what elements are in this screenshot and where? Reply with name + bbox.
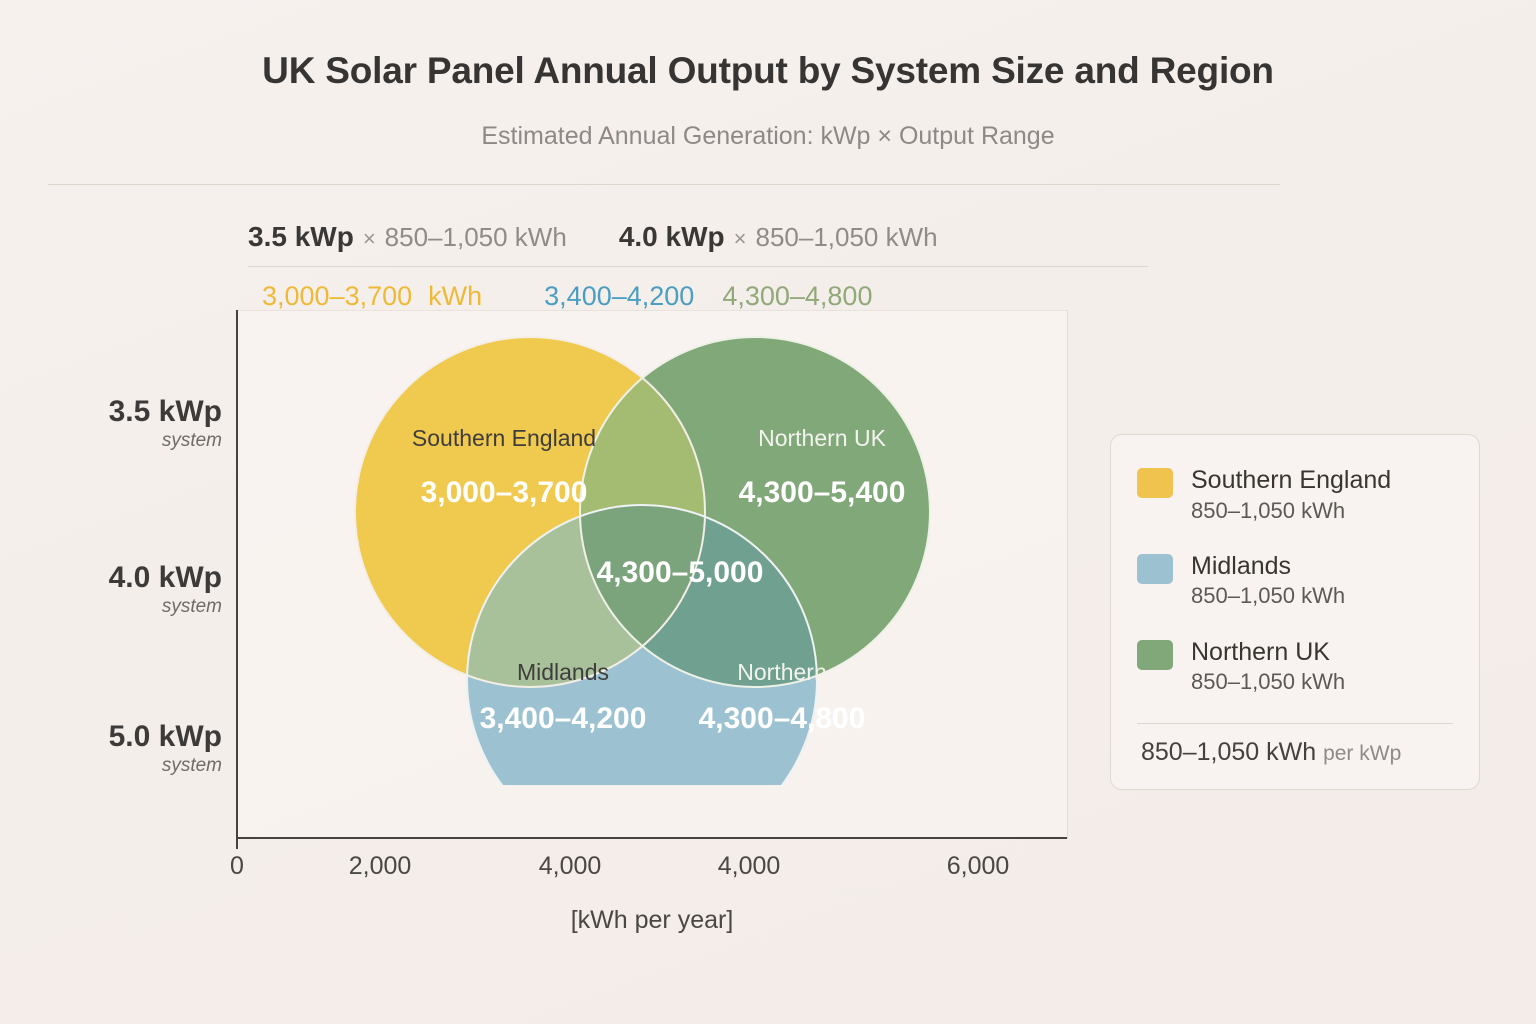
legend-divider: [1137, 723, 1453, 724]
legend-item-midlands[interactable]: Midlands 850–1,050 kWh: [1137, 551, 1453, 611]
legend-swatch-southern-england: [1137, 468, 1173, 498]
legend-sub-midlands: 850–1,050 kWh: [1191, 581, 1345, 610]
venn-value-northern: 4,300–4,800: [699, 702, 866, 735]
kwp-range-1: 850–1,050 kWh: [385, 222, 567, 253]
y-category-sub-1: system: [22, 427, 222, 455]
kwp-header-row: 3.5 kWp × 850–1,050 kWh 4.0 kWp × 850–1,…: [248, 216, 1148, 258]
x-axis-title: [kWh per year]: [237, 906, 1067, 935]
legend-name-southern-england: Southern England: [1191, 465, 1391, 496]
value-southern: 3,000–3,700: [262, 281, 412, 312]
venn-title-southern: Southern England: [412, 425, 596, 451]
x-tick-1: 2,000: [349, 852, 412, 881]
legend-panel: Southern England 850–1,050 kWh Midlands …: [1110, 434, 1480, 790]
legend-name-midlands: Midlands: [1191, 551, 1345, 582]
header-divider: [48, 184, 1280, 185]
x-tick-0: 0: [230, 852, 244, 881]
kwp-item-2: 4.0 kWp × 850–1,050 kWh: [619, 221, 938, 253]
y-category-4-0kwp: 4.0 kWp system: [22, 562, 222, 621]
legend-swatch-northern-uk: [1137, 640, 1173, 670]
y-category-5-0kwp: 5.0 kWp system: [22, 721, 222, 780]
y-category-label-2: 4.0 kWp: [22, 562, 222, 593]
multiply-icon-2: ×: [734, 226, 747, 252]
kwp-range-2: 850–1,050 kWh: [755, 222, 937, 253]
venn-diagram: Southern England 3,000–3,700 Northern UK…: [237, 310, 1067, 838]
y-category-label-1: 3.5 kWp: [22, 396, 222, 427]
y-category-sub-2: system: [22, 593, 222, 621]
venn-title-midlands: Midlands: [517, 659, 609, 685]
value-unit: kWh: [428, 281, 482, 312]
value-northern: 4,300–4,800: [722, 281, 872, 312]
page-subtitle: Estimated Annual Generation: kWp × Outpu…: [0, 122, 1536, 151]
page-title: UK Solar Panel Annual Output by System S…: [0, 50, 1536, 92]
venn-value-southern: 3,000–3,700: [421, 476, 588, 509]
y-category-label-3: 5.0 kWp: [22, 721, 222, 752]
venn-title-northern-uk: Northern UK: [758, 425, 886, 451]
value-summary-row: 3,000–3,700 kWh 3,400–4,200 4,300–4,800: [262, 278, 1162, 314]
legend-footer-value: 850–1,050 kWh: [1141, 738, 1316, 766]
legend-footer: 850–1,050 kWh per kWp: [1137, 738, 1453, 767]
x-tick-2: 4,000: [539, 852, 602, 881]
legend-sub-northern-uk: 850–1,050 kWh: [1191, 667, 1345, 696]
legend-item-northern-uk[interactable]: Northern UK 850–1,050 kWh: [1137, 637, 1453, 697]
multiply-icon-1: ×: [363, 226, 376, 252]
venn-value-center: 4,300–5,000: [597, 556, 764, 589]
venn-value-midlands: 3,400–4,200: [480, 702, 647, 735]
x-tick-4: 6,000: [947, 852, 1010, 881]
venn-value-northern-uk: 4,300–5,400: [739, 476, 906, 509]
kwp-size-1: 3.5 kWp: [248, 221, 354, 253]
legend-swatch-midlands: [1137, 554, 1173, 584]
kwp-size-2: 4.0 kWp: [619, 221, 725, 253]
venn-title-northern: Northern: [737, 659, 826, 685]
legend-name-northern-uk: Northern UK: [1191, 637, 1345, 668]
y-category-sub-3: system: [22, 752, 222, 780]
kwp-row-divider: [248, 266, 1148, 267]
legend-footer-unit: per kWp: [1323, 742, 1401, 765]
page-root: UK Solar Panel Annual Output by System S…: [0, 0, 1536, 1024]
legend-item-southern-england[interactable]: Southern England 850–1,050 kWh: [1137, 465, 1453, 525]
kwp-item-1: 3.5 kWp × 850–1,050 kWh: [248, 221, 567, 253]
value-midlands: 3,400–4,200: [544, 281, 694, 312]
x-axis-zero-tick: [236, 838, 238, 849]
y-category-3-5kwp: 3.5 kWp system: [22, 396, 222, 455]
legend-sub-southern-england: 850–1,050 kWh: [1191, 496, 1391, 525]
x-tick-3: 4,000: [718, 852, 781, 881]
